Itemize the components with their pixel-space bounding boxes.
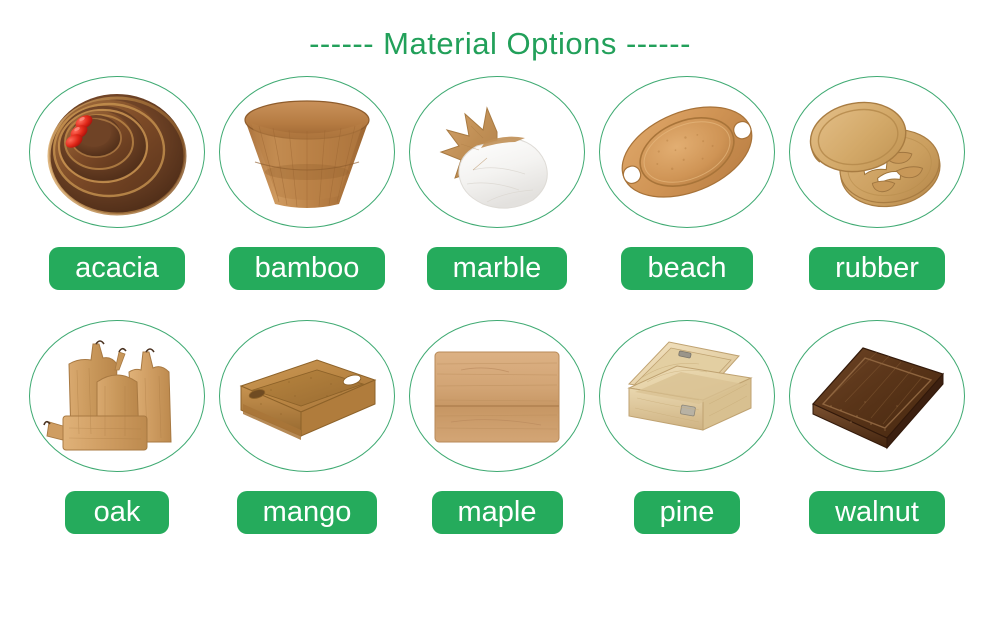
material-options-page: ------ Material Options ------ xyxy=(0,0,1000,634)
material-label-walnut[interactable]: walnut xyxy=(809,491,945,534)
page-title: ------ Material Options ------ xyxy=(0,0,1000,62)
material-card-marble[interactable]: marble xyxy=(402,76,592,290)
material-row: oak xyxy=(0,320,1000,534)
material-card-oak[interactable]: oak xyxy=(22,320,212,534)
material-thumbnail-rubber[interactable] xyxy=(789,76,965,228)
material-label-acacia[interactable]: acacia xyxy=(49,247,185,290)
material-thumbnail-acacia[interactable] xyxy=(29,76,205,228)
oak-paddle-board-set-image xyxy=(41,330,193,462)
material-thumbnail-marble[interactable] xyxy=(409,76,585,228)
material-thumbnail-walnut[interactable] xyxy=(789,320,965,472)
bamboo-tapered-bowl-image xyxy=(231,86,383,218)
material-thumbnail-bamboo[interactable] xyxy=(219,76,395,228)
material-grid: acacia xyxy=(0,76,1000,534)
material-thumbnail-maple[interactable] xyxy=(409,320,585,472)
maple-rectangular-cutting-board-image xyxy=(421,330,573,462)
material-card-acacia[interactable]: acacia xyxy=(22,76,212,290)
material-card-mango[interactable]: mango xyxy=(212,320,402,534)
material-thumbnail-oak[interactable] xyxy=(29,320,205,472)
material-label-beach[interactable]: beach xyxy=(621,247,752,290)
material-card-maple[interactable]: maple xyxy=(402,320,592,534)
material-thumbnail-mango[interactable] xyxy=(219,320,395,472)
material-label-marble[interactable]: marble xyxy=(427,247,568,290)
material-card-bamboo[interactable]: bamboo xyxy=(212,76,402,290)
rubber-round-cheese-board-set-image xyxy=(801,86,953,218)
material-label-mango[interactable]: mango xyxy=(237,491,378,534)
material-label-bamboo[interactable]: bamboo xyxy=(229,247,386,290)
material-card-walnut[interactable]: walnut xyxy=(782,320,972,534)
material-thumbnail-beach[interactable] xyxy=(599,76,775,228)
material-label-oak[interactable]: oak xyxy=(65,491,169,534)
acacia-stacked-round-plates-with-tomatoes-image xyxy=(41,86,193,218)
marble-pineapple-board-image xyxy=(421,86,573,218)
material-card-rubber[interactable]: rubber xyxy=(782,76,972,290)
mango-rectangular-serving-tray-image xyxy=(231,330,383,462)
material-card-pine[interactable]: pine xyxy=(592,320,782,534)
material-label-maple[interactable]: maple xyxy=(432,491,563,534)
material-thumbnail-pine[interactable] xyxy=(599,320,775,472)
material-row: acacia xyxy=(0,76,1000,290)
pine-hinged-storage-box-image xyxy=(611,330,763,462)
walnut-board-with-juice-groove-image xyxy=(801,330,953,462)
beach-oval-tray-with-handles-image xyxy=(611,86,763,218)
material-label-rubber[interactable]: rubber xyxy=(809,247,945,290)
material-card-beach[interactable]: beach xyxy=(592,76,782,290)
material-label-pine[interactable]: pine xyxy=(634,491,741,534)
